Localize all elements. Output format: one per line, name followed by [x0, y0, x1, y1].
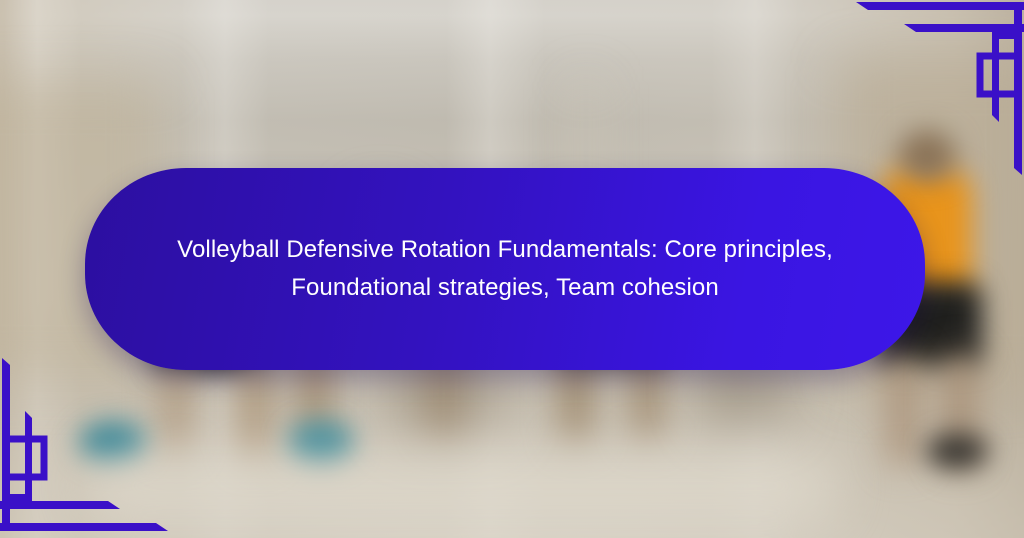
background-player-orange-leg-left: [888, 354, 918, 466]
title-banner: Volleyball Defensive Rotation Fundamenta…: [85, 168, 925, 370]
background-player-left-leg-c: [240, 356, 270, 460]
background-player-orange-shoe: [926, 434, 988, 468]
background-player-left-leg-b: [162, 358, 190, 454]
page-title: Volleyball Defensive Rotation Fundamenta…: [175, 231, 835, 307]
background-floor-sheen: [80, 446, 840, 526]
share-card: Volleyball Defensive Rotation Fundamenta…: [0, 0, 1024, 538]
background-player-orange-head: [898, 130, 956, 182]
